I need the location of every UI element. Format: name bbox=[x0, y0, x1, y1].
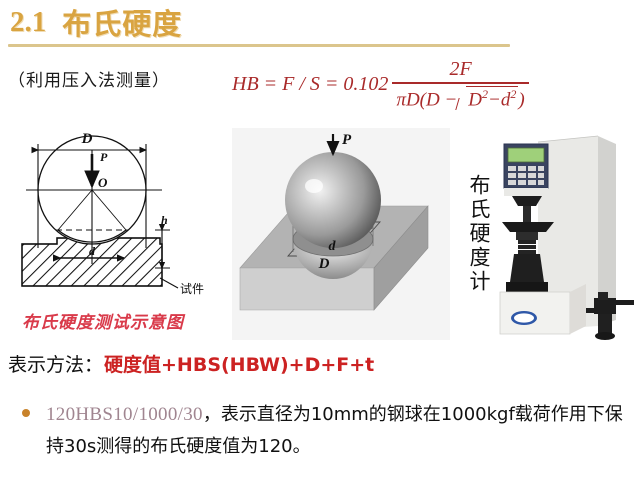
brinell-schematic-svg: D P O d h 试件 bbox=[12, 128, 222, 308]
formula-fraction: 2F πD(D −D2−d2) bbox=[392, 58, 528, 111]
subtitle: （利用压入法测量） bbox=[8, 66, 170, 91]
label-O: O bbox=[98, 175, 108, 190]
title-divider bbox=[8, 44, 510, 47]
radical-icon: D2−d2 bbox=[457, 86, 518, 111]
figure-left-caption: 布氏硬度测试示意图 bbox=[22, 308, 184, 333]
brinell-schematic-figure: D P O d h 试件 bbox=[12, 128, 222, 308]
notation-label: 表示方法： bbox=[8, 350, 103, 377]
label-specimen: 试件 bbox=[180, 281, 204, 296]
brinell-tester-photo bbox=[494, 130, 640, 342]
formula-numerator: 2F bbox=[443, 58, 477, 82]
title-text: 布氏硬度 bbox=[62, 1, 182, 43]
example-code: 120HBS10/1000/30 bbox=[46, 404, 203, 425]
page-title: 2.1 布氏硬度 bbox=[10, 2, 182, 42]
radicand-minus: − bbox=[488, 89, 501, 110]
radicand: D2−d2 bbox=[466, 86, 518, 111]
title-number: 2.1 bbox=[10, 6, 46, 39]
label-D-3d: D bbox=[318, 256, 330, 272]
example-text: 120HBS10/1000/30，表示直径为10mm的钢球在1000kgf载荷作… bbox=[46, 398, 632, 463]
label-P-3d: P bbox=[342, 132, 352, 148]
label-h: h bbox=[161, 213, 168, 227]
machine-vertical-label: 布氏硬度计 bbox=[460, 174, 490, 294]
label-D: D bbox=[81, 131, 93, 147]
label-P: P bbox=[100, 150, 108, 164]
notation-value: 硬度值+HBS(HBW)+D+F+t bbox=[104, 350, 374, 377]
label-d-3d: d bbox=[329, 239, 337, 254]
formula-denominator: πD(D −D2−d2) bbox=[392, 84, 528, 111]
lcd-display bbox=[508, 148, 544, 162]
notation-line: 表示方法： 硬度值+HBS(HBW)+D+F+t bbox=[8, 350, 374, 377]
hardness-formula: HB = F / S = 0.102 2F πD(D −D2−d2) bbox=[232, 58, 529, 111]
denominator-suffix: ) bbox=[518, 89, 524, 110]
radicand-d: D bbox=[468, 89, 482, 110]
slide-root: 2.1 布氏硬度 （利用压入法测量） HB = F / S = 0.102 2F… bbox=[0, 0, 640, 480]
ball-indentation-3d-figure: P d D bbox=[232, 128, 450, 340]
formula-lead: HB = F / S = 0.102 bbox=[232, 73, 388, 96]
radicand-d2: d bbox=[501, 89, 511, 110]
bullet-dot-icon bbox=[22, 409, 30, 417]
denominator-prefix: πD(D − bbox=[396, 89, 457, 110]
ball-indentation-3d-svg: P d D bbox=[232, 128, 450, 340]
example-bullet-block: 120HBS10/1000/30，表示直径为10mm的钢球在1000kgf载荷作… bbox=[8, 398, 632, 463]
label-d: d bbox=[89, 244, 96, 258]
radicand-sup2: 2 bbox=[510, 87, 516, 101]
brinell-tester-svg bbox=[494, 130, 640, 342]
